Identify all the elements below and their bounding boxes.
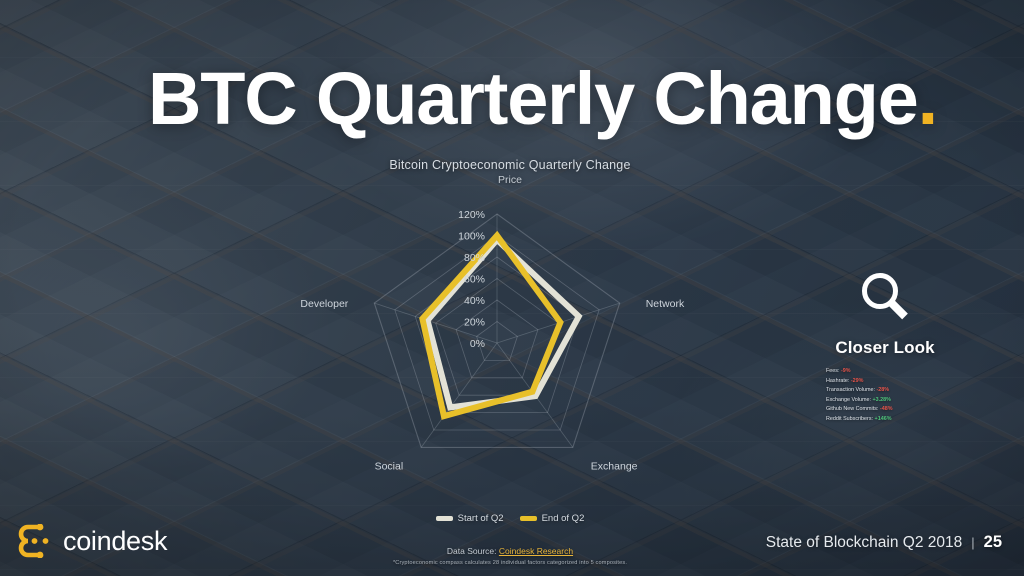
- metric-label: Exchange Volume:: [826, 397, 872, 403]
- radar-category-social: Social: [375, 460, 404, 472]
- coindesk-logo[interactable]: coindesk: [18, 524, 167, 558]
- svg-text:80%: 80%: [464, 252, 485, 264]
- legend-label-start-of-q2: Start of Q2: [458, 513, 504, 524]
- legend-label-end-of-q2: End of Q2: [542, 513, 585, 524]
- radar-category-network: Network: [646, 298, 685, 310]
- chart-footnote: *Cryptoeconomic compass calculates 28 in…: [300, 560, 720, 566]
- svg-text:0%: 0%: [470, 338, 485, 350]
- magnifying-glass-icon: [856, 268, 914, 326]
- coindesk-node-logo-icon: [18, 524, 52, 558]
- svg-text:120%: 120%: [458, 209, 485, 221]
- title-accent-dot: .: [918, 57, 937, 140]
- closer-look-heading: Closer Look: [800, 338, 970, 358]
- metric-row: Exchange Volume: +3.28%: [826, 396, 970, 406]
- slide-canvas: BTC Quarterly Change. Bitcoin Cryptoecon…: [0, 0, 1024, 576]
- radar-category-exchange: Exchange: [591, 460, 638, 472]
- footer-meta: State of Blockchain Q2 2018 | 25: [766, 533, 1002, 552]
- metric-row: Reddit Subscribers: +146%: [826, 415, 970, 425]
- legend-item-end-of-q2[interactable]: End of Q2: [520, 513, 585, 524]
- radar-category-developer: Developer: [300, 298, 348, 310]
- footer-separator: |: [971, 535, 974, 550]
- data-source-link[interactable]: Coindesk Research: [499, 546, 573, 556]
- metric-value: -28%: [876, 387, 889, 393]
- svg-text:40%: 40%: [464, 295, 485, 307]
- closer-look-panel: Closer Look Fees: -9%Hashrate: -29%Trans…: [800, 268, 970, 425]
- metric-value: -29%: [851, 378, 864, 384]
- metric-row: Hashrate: -29%: [826, 377, 970, 387]
- radar-svg: 0%20%40%60%80%100%120% NetworkExchangeSo…: [300, 150, 720, 510]
- metric-row: Github New Commits: -48%: [826, 405, 970, 415]
- metric-value: +3.28%: [872, 397, 890, 403]
- svg-text:60%: 60%: [464, 274, 485, 286]
- metric-value: -9%: [841, 368, 851, 374]
- legend-swatch-end-of-q2: [520, 516, 537, 521]
- metric-label: Github New Commits:: [826, 406, 880, 412]
- metric-value: +146%: [875, 416, 892, 422]
- svg-text:100%: 100%: [458, 231, 485, 243]
- footer-page-number: 25: [984, 533, 1002, 552]
- chart-legend: Start of Q2 End of Q2: [300, 513, 720, 524]
- metric-label: Hashrate:: [826, 378, 851, 384]
- metric-value: -48%: [880, 406, 893, 412]
- metric-label: Transaction Volume:: [826, 387, 876, 393]
- closer-look-metrics: Fees: -9%Hashrate: -29%Transaction Volum…: [800, 367, 970, 425]
- data-source-prefix: Data Source:: [447, 546, 499, 556]
- legend-item-start-of-q2[interactable]: Start of Q2: [436, 513, 504, 524]
- coindesk-wordmark: coindesk: [63, 528, 167, 555]
- metric-row: Transaction Volume: -28%: [826, 386, 970, 396]
- data-source: Data Source: Coindesk Research: [300, 546, 720, 556]
- svg-text:20%: 20%: [464, 317, 485, 329]
- metric-row: Fees: -9%: [826, 367, 970, 377]
- metric-label: Fees:: [826, 368, 841, 374]
- page-title-text: BTC Quarterly Change: [148, 57, 918, 140]
- radar-chart: Bitcoin Cryptoeconomic Quarterly Change …: [300, 150, 720, 570]
- footer-report-title: State of Blockchain Q2 2018: [766, 534, 962, 552]
- legend-swatch-start-of-q2: [436, 516, 453, 521]
- metric-label: Reddit Subscribers:: [826, 416, 875, 422]
- page-title: BTC Quarterly Change.: [148, 62, 937, 136]
